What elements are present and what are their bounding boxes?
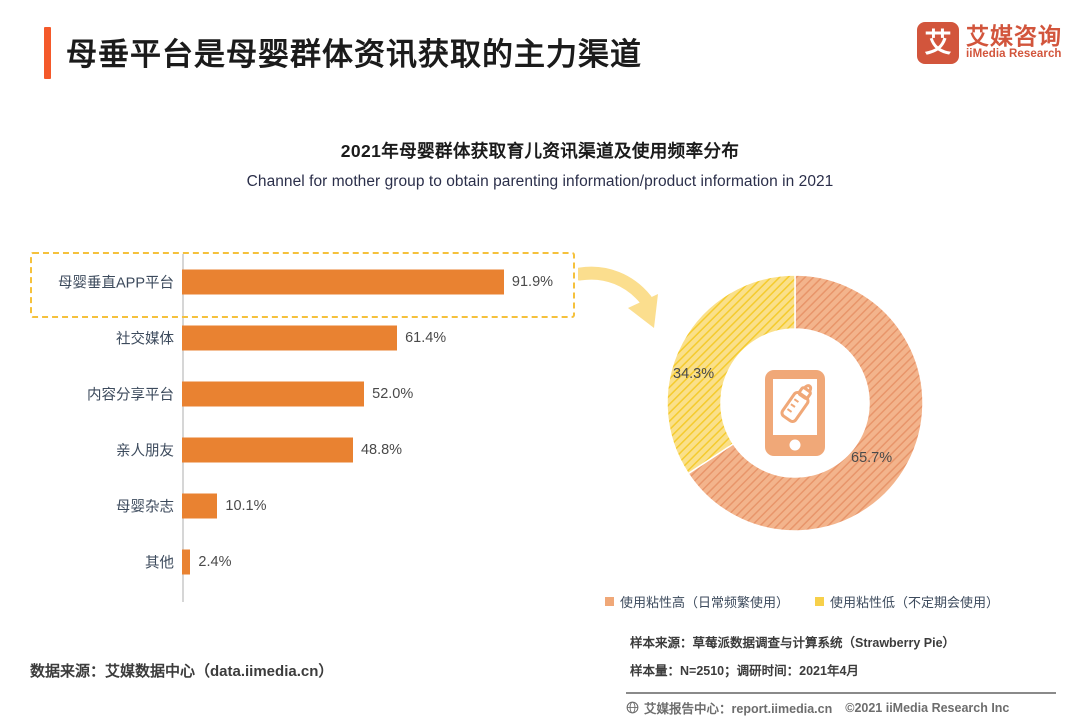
- footer-sample-info: 样本来源：草莓派数据调查与计算系统（Strawberry Pie） 样本量：N=…: [630, 636, 1060, 679]
- chart-subtitle: Channel for mother group to obtain paren…: [0, 173, 1080, 191]
- legend-swatch-icon-high: [605, 597, 614, 606]
- bar-category-label: 母婴杂志: [18, 496, 174, 517]
- footer-report-center: 艾媒报告中心：report.iimedia.cn ©2021 iiMedia R…: [626, 698, 1056, 717]
- bar-value-label: 2.4%: [198, 554, 231, 570]
- footer-divider: [626, 692, 1056, 694]
- logo-text: 艾媒咨询 iiMedia Research: [966, 24, 1062, 62]
- legend-swatch-icon-low: [815, 597, 824, 606]
- highlight-box: [30, 252, 575, 318]
- legend-item-high[interactable]: 使用粘性高（日常频繁使用）: [605, 592, 789, 611]
- brand-logo: 艾 艾媒咨询 iiMedia Research: [917, 22, 1062, 64]
- legend-label-high: 使用粘性高（日常频繁使用）: [620, 592, 789, 611]
- bar-row: 内容分享平台52.0%: [0, 366, 600, 422]
- logo-name-cn: 艾媒咨询: [966, 24, 1062, 48]
- donut-label-low: 34.3%: [673, 366, 714, 382]
- bar-fill: [182, 550, 190, 575]
- slide-root: 母垂平台是母婴群体资讯获取的主力渠道 艾 艾媒咨询 iiMedia Resear…: [0, 0, 1080, 720]
- bar-fill: [182, 382, 364, 407]
- donut-label-high: 65.7%: [851, 450, 892, 466]
- globe-icon: [626, 701, 639, 714]
- bar-fill: [182, 438, 353, 463]
- title-accent-bar: [44, 27, 51, 79]
- bar-value-label: 10.1%: [225, 498, 266, 514]
- donut-legend: 使用粘性高（日常频繁使用） 使用粘性低（不定期会使用）: [592, 592, 1012, 611]
- footer-data-source: 数据来源：艾媒数据中心（data.iimedia.cn）: [30, 660, 333, 681]
- donut-chart: 34.3% 65.7%: [645, 258, 945, 568]
- bar-value-label: 61.4%: [405, 330, 446, 346]
- footer: 数据来源：艾媒数据中心（data.iimedia.cn） 样本来源：草莓派数据调…: [0, 630, 1080, 720]
- bar-category-label: 亲人朋友: [18, 440, 174, 461]
- chart-title: 2021年母婴群体获取育儿资讯渠道及使用频率分布: [0, 138, 1080, 163]
- header: 母垂平台是母婴群体资讯获取的主力渠道 艾 艾媒咨询 iiMedia Resear…: [0, 0, 1080, 100]
- bar-category-label: 社交媒体: [18, 328, 174, 349]
- bar-fill: [182, 494, 217, 519]
- bar-value-label: 52.0%: [372, 386, 413, 402]
- bar-category-label: 其他: [18, 552, 174, 573]
- footer-report-center-label: 艾媒报告中心：report.iimedia.cn: [644, 698, 832, 717]
- footer-copyright: ©2021 iiMedia Research Inc: [845, 701, 1009, 715]
- bar-category-label: 内容分享平台: [18, 384, 174, 405]
- bar-row: 亲人朋友48.8%: [0, 422, 600, 478]
- logo-mark-icon: 艾: [917, 22, 959, 64]
- bar-row: 其他2.4%: [0, 534, 600, 590]
- bar-row: 社交媒体61.4%: [0, 310, 600, 366]
- legend-label-low: 使用粘性低（不定期会使用）: [830, 592, 999, 611]
- footer-sample-source: 样本来源：草莓派数据调查与计算系统（Strawberry Pie）: [630, 636, 1060, 650]
- bar-row: 母婴杂志10.1%: [0, 478, 600, 534]
- page-title: 母垂平台是母婴群体资讯获取的主力渠道: [66, 29, 642, 74]
- legend-item-low[interactable]: 使用粘性低（不定期会使用）: [815, 592, 999, 611]
- footer-sample-size: 样本量：N=2510；调研时间：2021年4月: [630, 664, 1060, 678]
- bar-value-label: 48.8%: [361, 442, 402, 458]
- bar-fill: [182, 326, 397, 351]
- logo-name-en: iiMedia Research: [966, 48, 1062, 62]
- phone-baby-bottle-icon: [762, 367, 828, 459]
